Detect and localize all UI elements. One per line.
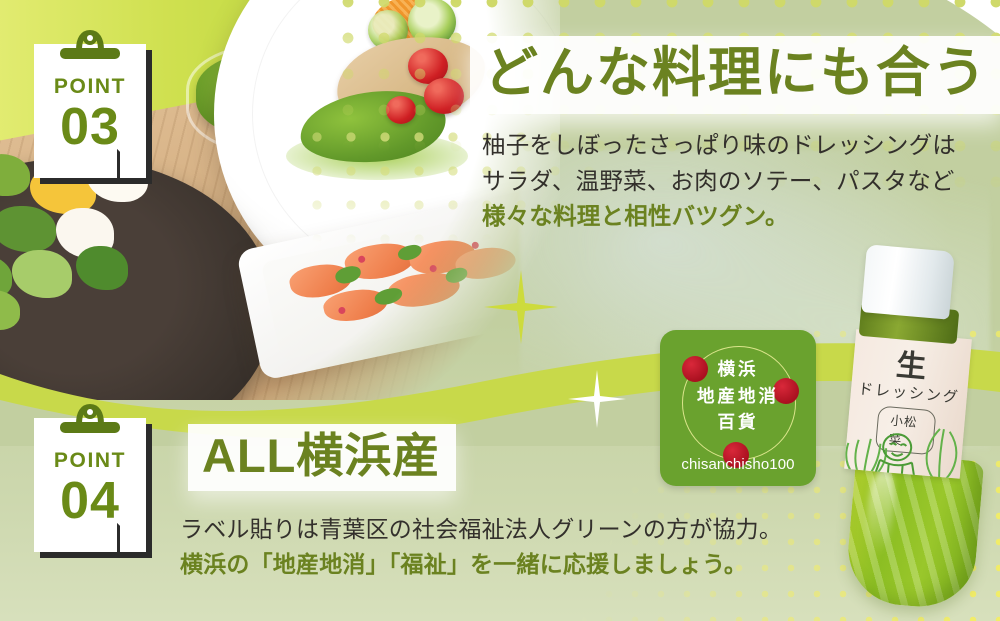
sparkle-star-icon — [482, 268, 560, 346]
badge-number: 03 — [34, 101, 146, 153]
logo-roman-text: chisanchisho100 — [660, 456, 816, 473]
clipboard-clip-icon — [57, 404, 123, 434]
badge-word: POINT — [34, 76, 146, 97]
point-04-heading: ALL横浜産 — [188, 424, 456, 491]
point-04-badge: POINT 04 — [34, 404, 146, 552]
chisanchisho-logo: 横浜 地産地消 百貨 chisanchisho100 — [660, 330, 816, 486]
sparkle-star-icon — [566, 368, 628, 430]
point-04-body: ラベル貼りは青葉区の社会福祉法人グリーンの方が協力。 横浜の「地産地消」「福祉」… — [180, 512, 782, 582]
promo-poster: POINT 03 どんな料理にも合う 柚子をしぼったさっぱり味のドレッシングは … — [0, 0, 1000, 621]
badge-number: 04 — [34, 475, 146, 527]
badge-word: POINT — [34, 450, 146, 471]
body-line: ラベル貼りは青葉区の社会福祉法人グリーンの方が協力。 — [180, 512, 782, 547]
body-line-accent: 様々な料理と相性バツグン。 — [482, 199, 956, 235]
leaf-illustration-icon — [915, 423, 968, 479]
body-line-accent: 横浜の「地産地消」「福祉」を一緒に応援しましょう。 — [180, 547, 782, 582]
logo-line-2: 地産地消 — [660, 383, 816, 410]
point-03-heading: どんな料理にも合う — [470, 36, 1000, 114]
point-03-badge: POINT 03 — [34, 30, 146, 178]
dressing-bottle: 生 ドレッシング 小松菜 — [836, 248, 996, 621]
bottle-label: 生 ドレッシング 小松菜 — [844, 329, 972, 479]
logo-line-3: 百貨 — [660, 409, 816, 436]
logo-japanese-text: 横浜 地産地消 百貨 — [660, 356, 816, 436]
badge-text: POINT 03 — [34, 76, 146, 153]
bottle-cap — [861, 244, 955, 319]
logo-line-1: 横浜 — [660, 356, 816, 383]
clipboard-clip-icon — [57, 30, 123, 60]
point-03-body: 柚子をしぼったさっぱり味のドレッシングは サラダ、温野菜、お肉のソテー、パスタな… — [482, 128, 956, 235]
body-line: サラダ、温野菜、お肉のソテー、パスタなど — [482, 164, 956, 200]
badge-text: POINT 04 — [34, 450, 146, 527]
body-line: 柚子をしぼったさっぱり味のドレッシングは — [482, 128, 956, 164]
